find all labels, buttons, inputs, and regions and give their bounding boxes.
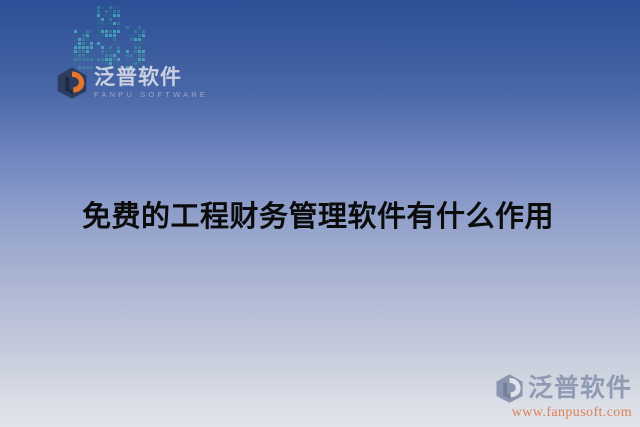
banner-image: 泛普软件 FANPU SOFTWARE 免费的工程财务管理软件有什么作用 泛普软… bbox=[0, 0, 640, 427]
watermark: 泛普软件 www.fanpusoft.com bbox=[494, 373, 632, 421]
brand-logo: 泛普软件 FANPU SOFTWARE bbox=[55, 66, 208, 100]
brand-name-en: FANPU SOFTWARE bbox=[94, 91, 208, 99]
brand-name-cn: 泛普软件 bbox=[94, 67, 208, 88]
brand-wordmark: 泛普软件 FANPU SOFTWARE bbox=[94, 67, 208, 99]
watermark-url: www.fanpusoft.com bbox=[494, 405, 632, 421]
watermark-brand-row: 泛普软件 bbox=[494, 373, 632, 404]
pixel-city-skyline-icon bbox=[74, 2, 152, 72]
watermark-brand-name: 泛普软件 bbox=[528, 376, 632, 401]
headline-title: 免费的工程财务管理软件有什么作用 bbox=[82, 193, 554, 235]
fanpu-hexagon-logo-icon bbox=[55, 66, 89, 100]
fanpu-hexagon-logo-icon bbox=[494, 373, 525, 404]
